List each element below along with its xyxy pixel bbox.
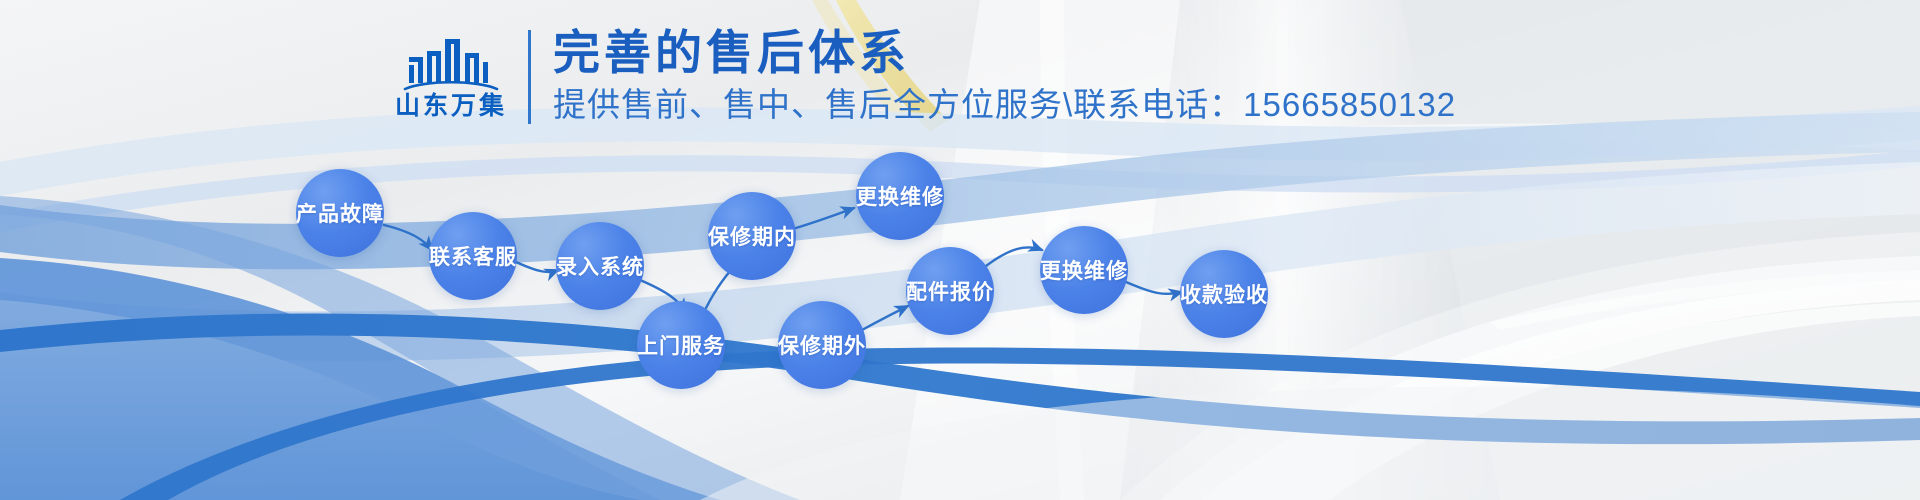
flow-node-onsite-service[interactable]: 上门服务 bbox=[637, 301, 725, 389]
flow-node-enter-system[interactable]: 录入系统 bbox=[556, 222, 644, 310]
flow-node-payment-acceptance[interactable]: 收款验收 bbox=[1180, 250, 1268, 338]
flow-node-parts-quote[interactable]: 配件报价 bbox=[906, 247, 994, 335]
flow-node-label: 收款验收 bbox=[1180, 279, 1268, 309]
flow-node-label: 保修期外 bbox=[778, 330, 866, 360]
header-divider bbox=[528, 30, 531, 124]
header-titles: 完善的售后体系 提供售前、售中、售后全方位服务\联系电话：15665850132 bbox=[553, 28, 1456, 125]
logo: 山东万集 bbox=[392, 35, 510, 119]
flow-node-out-of-warranty[interactable]: 保修期外 bbox=[778, 301, 866, 389]
flow-node-replace-repair-paid[interactable]: 更换维修 bbox=[1040, 226, 1128, 314]
banner-header: 山东万集 完善的售后体系 提供售前、售中、售后全方位服务\联系电话：156658… bbox=[392, 28, 1456, 125]
page-title: 完善的售后体系 bbox=[553, 28, 1456, 78]
flow-node-product-fault[interactable]: 产品故障 bbox=[296, 169, 384, 257]
flow-node-label: 上门服务 bbox=[637, 330, 725, 360]
flow-node-label: 更换维修 bbox=[1040, 255, 1128, 285]
flow-node-in-warranty[interactable]: 保修期内 bbox=[708, 192, 796, 280]
flow-node-label: 联系客服 bbox=[429, 241, 517, 271]
flow-node-label: 更换维修 bbox=[856, 181, 944, 211]
flow-node-label: 配件报价 bbox=[906, 276, 994, 306]
flow-node-contact-support[interactable]: 联系客服 bbox=[429, 212, 517, 300]
flow-node-label: 保修期内 bbox=[708, 221, 796, 251]
page-subtitle: 提供售前、售中、售后全方位服务\联系电话：15665850132 bbox=[553, 84, 1456, 125]
flow-node-label: 录入系统 bbox=[556, 251, 644, 281]
flow-node-label: 产品故障 bbox=[296, 198, 384, 228]
company-name: 山东万集 bbox=[395, 94, 507, 119]
building-skyline-icon bbox=[403, 35, 499, 91]
flow-node-replace-repair-warranty[interactable]: 更换维修 bbox=[856, 152, 944, 240]
after-sales-service-banner: 山东万集 完善的售后体系 提供售前、售中、售后全方位服务\联系电话：156658… bbox=[0, 0, 1920, 500]
